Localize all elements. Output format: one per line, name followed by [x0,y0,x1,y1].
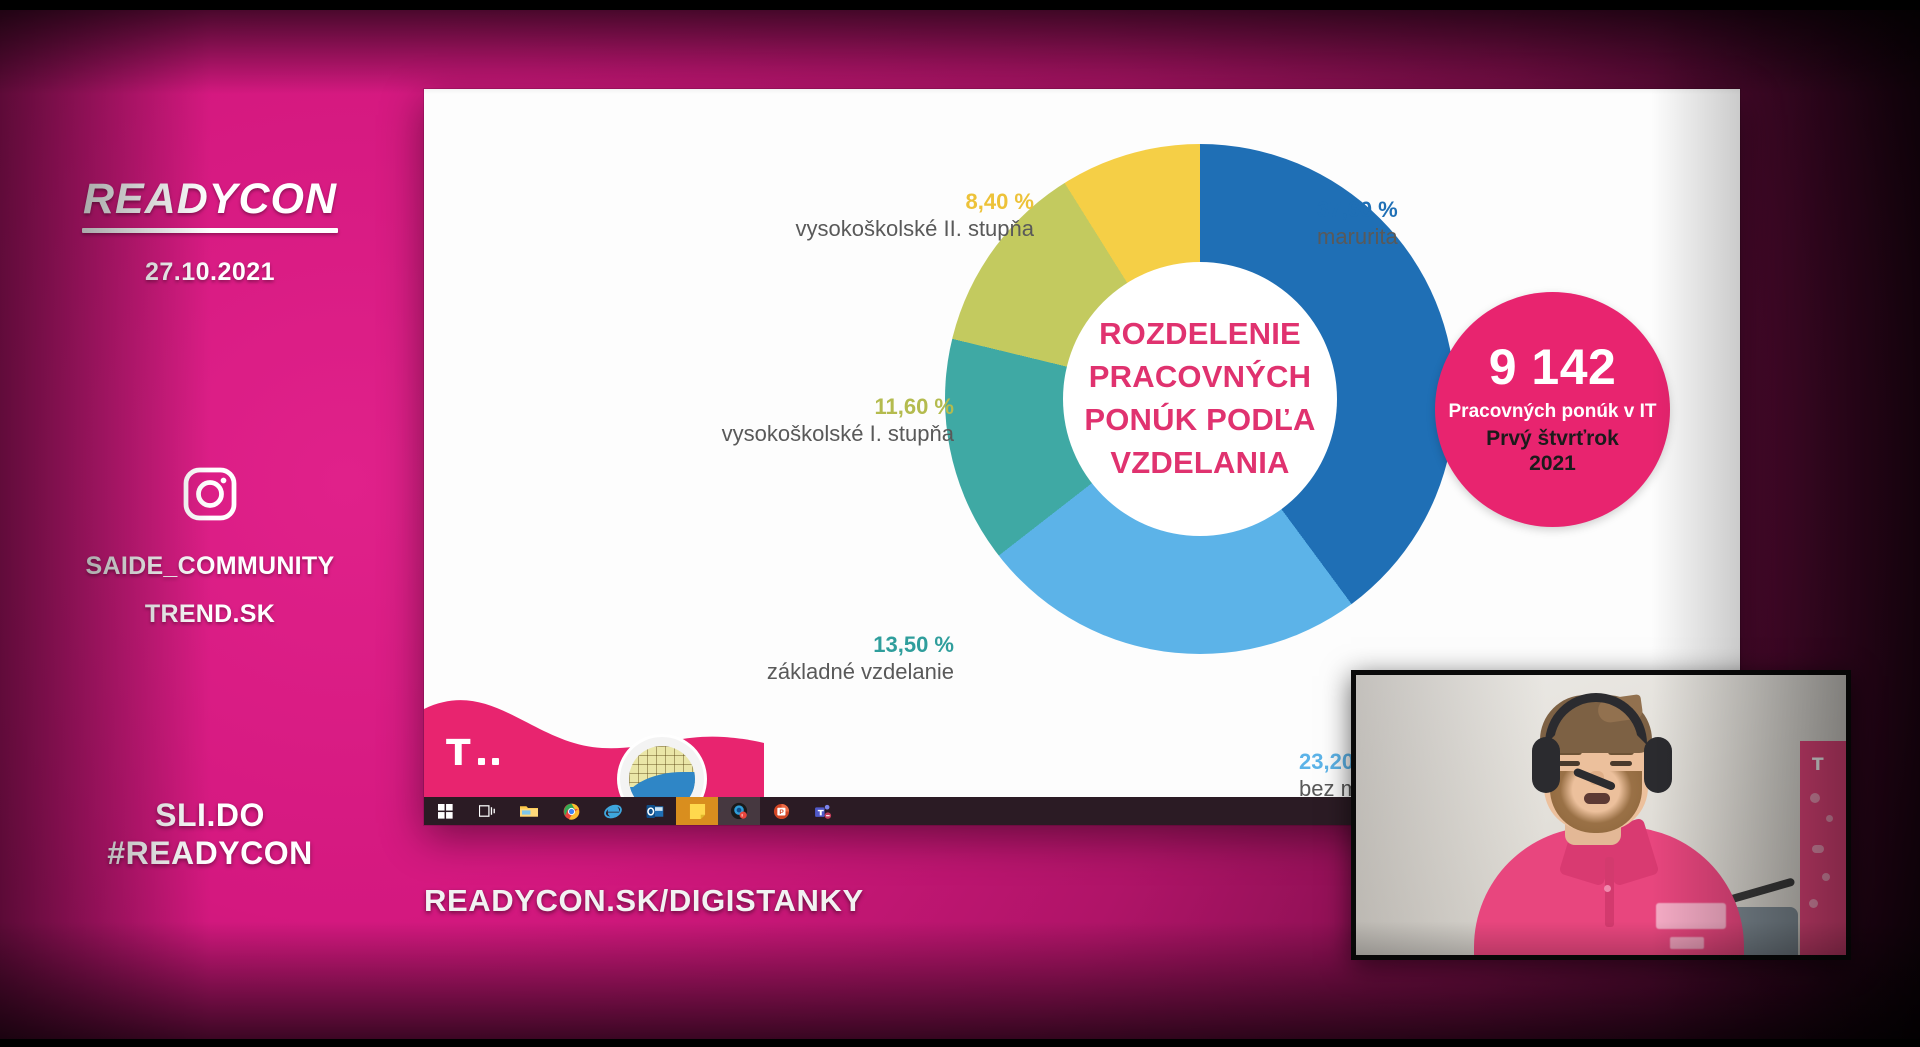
instagram-handle: SAIDE_COMMUNITY [86,552,335,581]
sticky-notes-icon[interactable] [676,797,718,825]
slide-wave-decoration: T [424,687,764,807]
chart-label-name: vysokoškolské II. stupňa [734,216,1034,243]
center-title-line-3: PONÚK PODĽA [1084,399,1315,442]
slido-hashtag: #READYCON [107,835,312,873]
chart-label-name: základné vzdelanie [634,659,954,686]
event-url: READYCON.SK/DIGISTANKY [424,883,864,919]
chart-label-name: vysokoškolské I. stupňa [614,421,954,448]
event-sidebar: READYCON 27.10.2021 SAIDE_COMMUNITY TREN… [0,0,420,1047]
stat-circle-badge: 9 142 Pracovných ponúk v IT Prvý štvrťro… [1435,292,1670,527]
chart-label-maturita: 37,60 % marurita [1317,197,1617,251]
stat-caption: Pracovných ponúk v IT [1449,401,1657,423]
chart-label-zakladne: 13,50 % základné vzdelanie [634,632,954,686]
speaker-eye-left [1558,761,1580,766]
internet-explorer-icon[interactable] [592,797,634,825]
headset-cup-right [1644,737,1672,793]
chart-label-name: marurita [1317,224,1617,251]
instagram-icon [180,464,240,529]
task-view-icon[interactable] [466,797,508,825]
speaker-mouth [1584,793,1610,804]
teams-icon[interactable] [802,797,844,825]
slido-url: SLI.DO [107,797,312,835]
logo-underline [82,228,338,233]
outlook-icon[interactable] [634,797,676,825]
powerpoint-icon[interactable]: P [760,797,802,825]
webcam-video: T [1356,675,1846,955]
donut-center-title: ROZDELENIE PRACOVNÝCH PONÚK PODĽA VZDELA… [1063,262,1337,536]
speaker-eye-right [1610,761,1632,766]
stat-period-line-2: 2021 [1529,452,1576,477]
stat-value: 9 142 [1489,342,1617,392]
chart-label-vysokoskolske-2: 8,40 % vysokoškolské II. stupňa [734,189,1034,243]
tmobile-banner: T [1800,741,1846,955]
event-date: 27.10.2021 [145,258,275,287]
chart-label-value: 11,60 % [614,394,954,421]
chrome-icon[interactable] [550,797,592,825]
chart-label-value: 37,60 % [1317,197,1617,224]
file-explorer-icon[interactable] [508,797,550,825]
center-title-line-1: ROZDELENIE [1099,313,1301,356]
presentation-stage: READYCON 27.10.2021 SAIDE_COMMUNITY TREN… [0,0,1920,1047]
headset-cup-left [1532,737,1560,793]
t-mobile-logo: T [446,740,499,769]
svg-text:P: P [779,808,784,815]
stat-period-line-1: Prvý štvrťrok [1486,427,1619,452]
chart-label-vysokoskolske-1: 11,60 % vysokoškolské I. stupňa [614,394,954,448]
slido-block: SLI.DO #READYCON [107,797,312,873]
start-icon[interactable] [424,797,466,825]
chart-label-value: 13,50 % [634,632,954,659]
letterbox-bottom [0,1039,1920,1047]
readycon-logo: READYCON [83,178,337,221]
chrome-alt-icon[interactable] [718,797,760,825]
chart-label-value: 8,40 % [734,189,1034,216]
speaker-webcam-overlay[interactable]: T [1351,670,1851,960]
center-title-line-2: PRACOVNÝCH [1089,356,1311,399]
center-title-line-4: VZDELANIA [1110,442,1289,485]
letterbox-top [0,0,1920,10]
banner-t-logo: T [1812,755,1824,775]
partner-site: TREND.SK [145,600,275,629]
